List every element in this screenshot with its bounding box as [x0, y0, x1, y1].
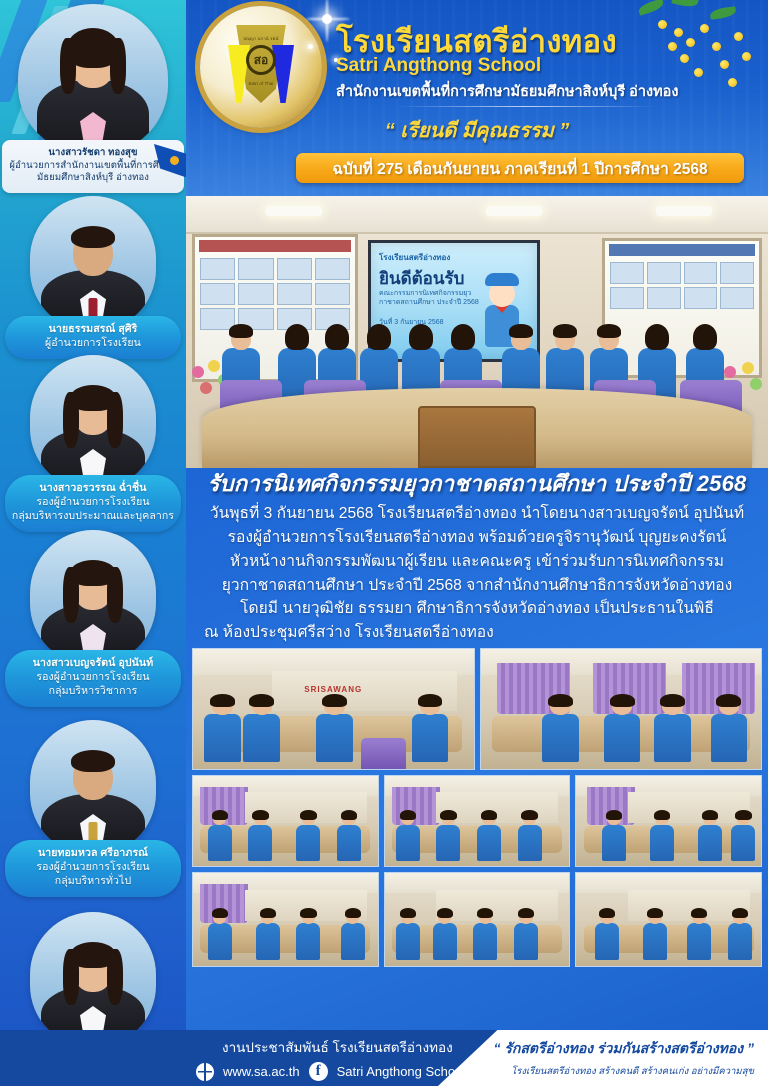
website-link[interactable]: www.sa.ac.th [223, 1064, 300, 1079]
executive-card-2: นางสาวอรวรรณ ฉ่ำชื่น รองผู้อำนวยการโรงเร… [0, 355, 186, 532]
crest-motto-top: ปญฺญา นรานํ รตนํ [243, 35, 278, 42]
photo-grid-row [192, 775, 762, 867]
executives-sidebar: นางสาวรัชดา ทองสุข ผู้อำนวยการสำนักงานเข… [0, 0, 186, 1086]
executive-name-3: นางสาวเบญจรัตน์ อุปนันท์ [11, 657, 175, 671]
photo-cell [192, 775, 379, 867]
photo-cell [384, 872, 571, 967]
article-body-line-5: ณ ห้องประชุมศรีสว่าง โรงเรียนสตรีอ่างทอง [186, 621, 768, 645]
header-divider [396, 106, 656, 107]
sparkle-small-icon-a [308, 44, 313, 49]
executive-name-2: นางสาวอรวรรณ ฉ่ำชื่น [11, 482, 175, 496]
executive-role-1a: ผู้อำนวยการโรงเรียน [11, 337, 175, 351]
executive-nameplate-2: นางสาวอรวรรณ ฉ่ำชื่น รองผู้อำนวยการโรงเร… [5, 475, 181, 532]
education-office-line: สำนักงานเขตพื้นที่การศึกษามัธยมศึกษาสิงห… [336, 80, 756, 103]
executive-nameplate-3: นางสาวเบญจรัตน์ อุปนันท์ รองผู้อำนวยการโ… [5, 650, 181, 707]
executive-role-3a: รองผู้อำนวยการโรงเรียน [11, 671, 175, 685]
executive-role-4a: รองผู้อำนวยการโรงเรียน [11, 861, 175, 875]
executive-role-4b: กลุ่มบริหารทั่วไป [11, 875, 175, 889]
school-logo: ปญฺญา นรานํ รตนํ สอ Satri of Thai [200, 6, 322, 128]
article-body: วันพุธที่ 3 กันยายน 2568 โรงเรียนสตรีอ่า… [186, 502, 768, 645]
executive-nameplate-1: นายธรรมสรณ์ สุศิริ ผู้อำนวยการโรงเรียน [5, 316, 181, 359]
newsletter-poster: นางสาวรัชดา ทองสุข ผู้อำนวยการสำนักงานเข… [0, 0, 768, 1086]
executive-role-2a: รองผู้อำนวยการโรงเรียน [11, 496, 175, 510]
footer-contact: งานประชาสัมพันธ์ โรงเรียนสตรีอ่างทอง www… [196, 1036, 465, 1081]
school-name-english: Satri Angthong School [336, 55, 716, 77]
executive-photo-2 [30, 355, 156, 491]
school-crest-icon: ปญฺญา นรานํ รตนํ สอ Satri of Thai [222, 25, 300, 109]
executive-card-1: นายธรรมสรณ์ สุศิริ ผู้อำนวยการโรงเรียน [0, 196, 186, 359]
footer-organization: งานประชาสัมพันธ์ โรงเรียนสตรีอ่างทอง [222, 1036, 465, 1058]
screen-line-1: โรงเรียนสตรีอ่างทอง [379, 251, 450, 264]
photo-wall-label: SRISAWANG [304, 685, 362, 694]
article-body-line-4: โดยมี นายวุฒิชัย ธรรมยา ศึกษาธิการจังหวั… [186, 597, 768, 621]
executive-name-4: นายทอมหวล ศรีอาภรณ์ [11, 847, 175, 861]
executive-photo-3 [30, 530, 156, 666]
poster-footer: งานประชาสัมพันธ์ โรงเรียนสตรีอ่างทอง www… [0, 1030, 768, 1086]
executive-photo-0 [18, 4, 168, 154]
poster-header: ปญฺญา นรานํ รตนํ สอ Satri of Thai [186, 0, 768, 196]
executive-card-4: นายทอมหวล ศรีอาภรณ์ รองผู้อำนวยการโรงเรี… [0, 720, 186, 897]
executive-card-0: นางสาวรัชดา ทองสุข ผู้อำนวยการสำนักงานเข… [0, 4, 186, 193]
sparkle-icon [322, 14, 332, 24]
main-column: ปญฺญา นรานํ รตนํ สอ Satri of Thai [186, 0, 768, 1086]
conference-table [202, 388, 752, 468]
executive-role-3b: กลุ่มบริหารวิชาการ [11, 685, 175, 699]
executive-card-3: นางสาวเบญจรัตน์ อุปนันท์ รองผู้อำนวยการโ… [0, 530, 186, 707]
photo-cell [192, 872, 379, 967]
photo-cell [384, 775, 571, 867]
photo-grid-row: SRISAWANG [192, 648, 762, 770]
photo-cell [575, 775, 762, 867]
executive-name-0: นางสาวรัชดา ทองสุข [8, 147, 178, 160]
executive-nameplate-4: นายทอมหวล ศรีอาภรณ์ รองผู้อำนวยการโรงเรี… [5, 840, 181, 897]
photo-cell [480, 648, 763, 770]
footer-slogan-block: “ รักสตรีอ่างทอง ร่วมกันสร้างสตรีอ่างทอง… [493, 1038, 754, 1079]
footer-slogan: “ รักสตรีอ่างทอง ร่วมกันสร้างสตรีอ่างทอง… [493, 1038, 754, 1060]
executive-role-0a: ผู้อำนวยการสำนักงานเขตพื้นที่การศึกษา [8, 160, 178, 173]
photo-grid: SRISAWANG [192, 648, 762, 972]
photo-cell: SRISAWANG [192, 648, 475, 770]
executive-name-1: นายธรรมสรณ์ สุศิริ [11, 323, 175, 337]
hero-photo: โรงเรียนสตรีอ่างทอง ยินดีต้อนรับ คณะกรรม… [186, 196, 768, 468]
article-body-line-0: วันพุธที่ 3 กันยายน 2568 โรงเรียนสตรีอ่า… [186, 502, 768, 526]
footer-sub-slogan: โรงเรียนสตรีอ่างทอง สร้างคนดี สร้างคนเก่… [493, 1064, 754, 1079]
article-body-line-2: หัวหน้างานกิจกรรมพัฒนาผู้เรียน และคณะครู… [186, 550, 768, 574]
photo-cell [575, 872, 762, 967]
crest-monogram: สอ [246, 45, 276, 75]
crest-motto-bottom: Satri of Thai [248, 81, 273, 86]
executive-photo-5 [30, 912, 156, 1048]
executive-photo-1 [30, 196, 156, 332]
article-headline: รับการนิเทศกิจกรรมยุวกาชาดสถานศึกษา ประจ… [186, 466, 768, 500]
facebook-page-link[interactable]: Satri Angthong School [337, 1064, 466, 1079]
executive-nameplate-0: นางสาวรัชดา ทองสุข ผู้อำนวยการสำนักงานเข… [2, 140, 184, 193]
photo-grid-row [192, 872, 762, 967]
executive-photo-4 [30, 720, 156, 856]
executive-role-0b: มัธยมศึกษาสิงห์บุรี อ่างทอง [8, 172, 178, 185]
issue-banner: ฉบับที่ 275 เดือนกันยายน ภาคเรียนที่ 1 ป… [296, 153, 744, 183]
article-body-line-1: รองผู้อำนวยการโรงเรียนสตรีอ่างทอง พร้อมด… [186, 526, 768, 550]
globe-icon [196, 1063, 214, 1081]
article-body-line-3: ยุวกาชาดสถานศึกษา ประจำปี 2568 จากสำนักง… [186, 574, 768, 598]
executive-role-2b: กลุ่มบริหารงบประมาณและบุคลากร [11, 510, 175, 524]
facebook-icon[interactable]: f [309, 1062, 328, 1081]
school-motto: “ เรียนดี มีคุณธรรม ” [186, 114, 768, 146]
